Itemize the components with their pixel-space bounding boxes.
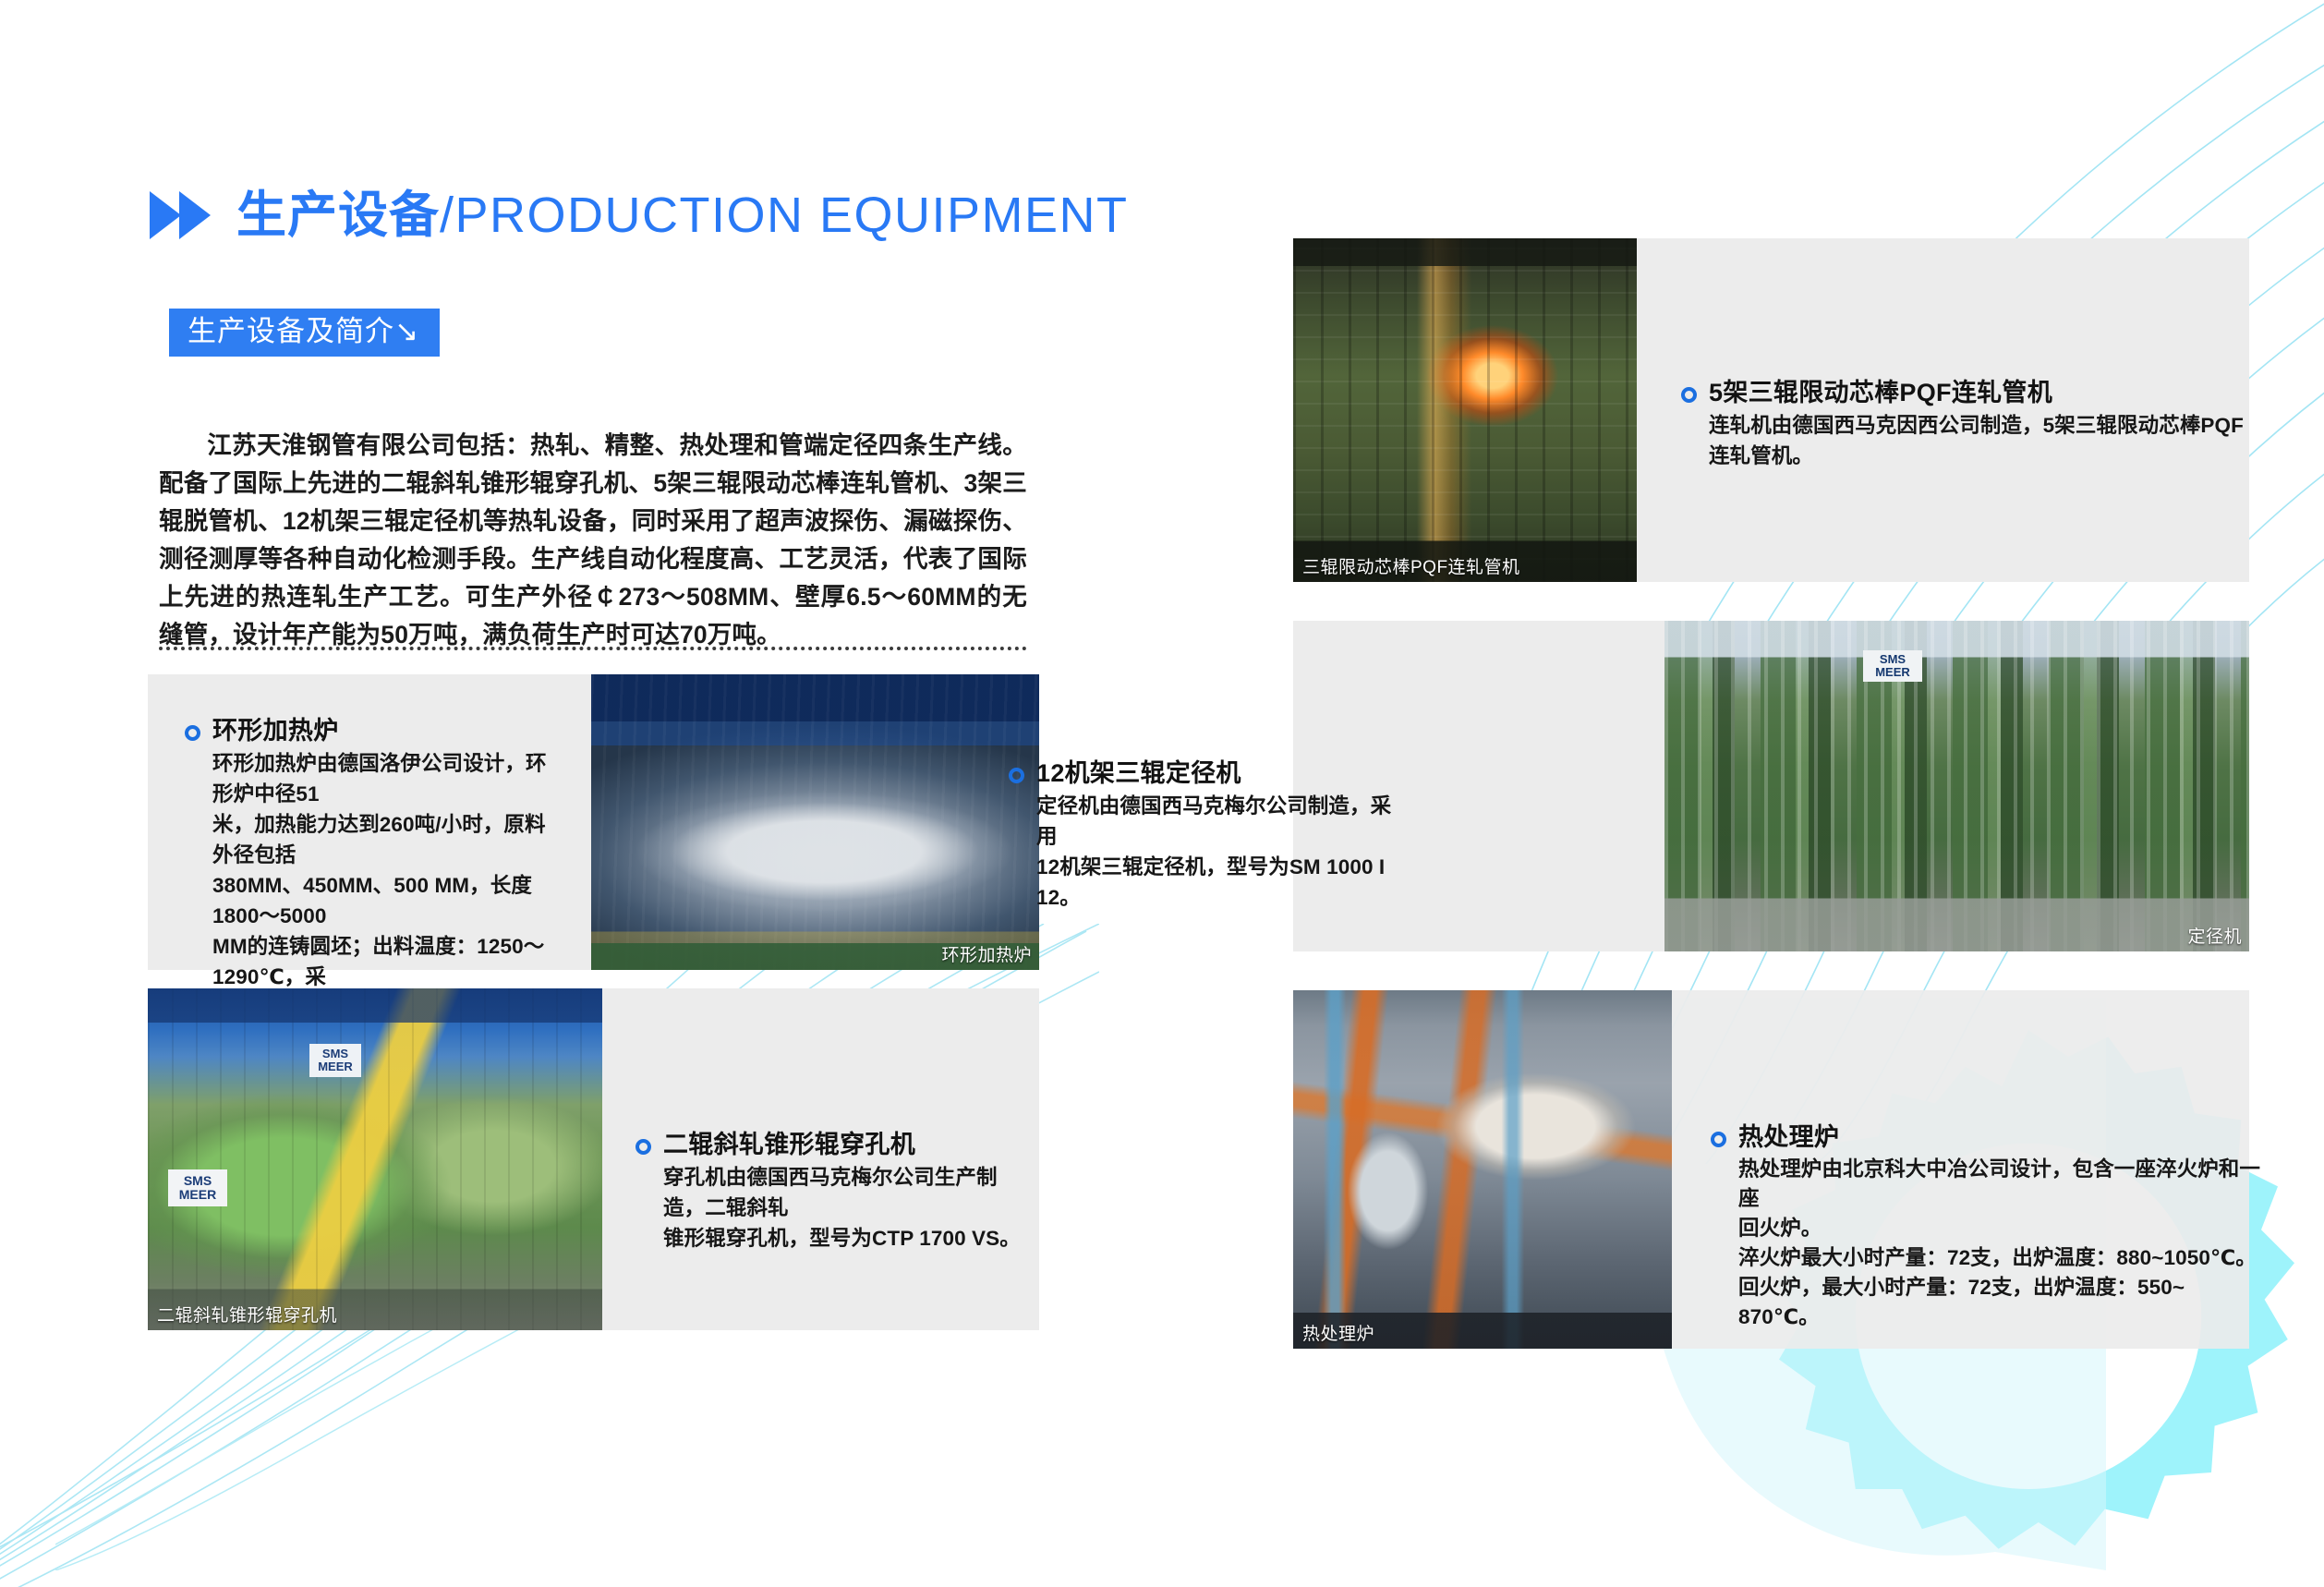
card-ring-furnace: 环形加热炉 环形加热炉 环形加热炉由德国洛伊公司设计，环形炉中径51 米，加热能… — [148, 674, 1039, 970]
card-line: MM的连铸圆坯；出料温度：1250～1290℃，采 — [212, 931, 563, 992]
intro-paragraph: 江苏天淮钢管有限公司包括：热轧、精整、热处理和管端定径四条生产线。配备了国际上先… — [159, 427, 1027, 654]
card-title: 二辊斜轧锥形辊穿孔机 — [663, 1129, 1023, 1160]
card-line: 穿孔机由德国西马克梅尔公司生产制造，二辊斜轧 — [663, 1162, 1023, 1223]
card-line: 热处理炉由北京科大中冶公司设计，包含一座淬火炉和一座 — [1738, 1155, 2265, 1214]
card-title: 热处理炉 — [1738, 1121, 2265, 1153]
card-heat-treatment-furnace: 热处理炉 热处理炉 热处理炉由北京科大中冶公司设计，包含一座淬火炉和一座 回火炉… — [1293, 990, 2249, 1349]
page-title: 生产设备/PRODUCTION EQUIPMENT — [236, 190, 1129, 240]
sms-meer-plate: SMSMEER — [309, 1044, 361, 1077]
section-badge: 生产设备及简介↘ — [169, 309, 440, 357]
cyan-swoosh-top-right — [1386, 0, 2324, 1164]
sms-meer-plate: SMSMEER — [1863, 650, 1922, 682]
card-text: 热处理炉 热处理炉由北京科大中冶公司设计，包含一座淬火炉和一座 回火炉。 淬火炉… — [1711, 1121, 2265, 1332]
photo-ring-furnace: 环形加热炉 — [591, 674, 1039, 970]
photo-caption: 热处理炉 — [1302, 1320, 1374, 1345]
brochure-page: 生产设备/PRODUCTION EQUIPMENT 生产设备及简介↘ 江苏天淮钢… — [0, 0, 2324, 1587]
bullet-icon — [635, 1139, 651, 1155]
card-line: 米，加热能力达到260吨/小时，原料外径包括 — [212, 809, 563, 870]
sms-meer-plate: SMSMEER — [168, 1169, 227, 1206]
card-line: 定径机由德国西马克梅尔公司制造，采用 — [1036, 791, 1406, 852]
photo-piercing-mill: SMSMEER SMSMEER 二辊斜轧锥形辊穿孔机 — [148, 988, 602, 1330]
card-line: 锥形辊穿孔机，型号为CTP 1700 VS。 — [663, 1223, 1023, 1254]
card-line: 淬火炉最大小时产量：72支，出炉温度：880~1050℃。 — [1738, 1243, 2265, 1273]
page-header: 生产设备/PRODUCTION EQUIPMENT — [148, 189, 1129, 241]
bullet-icon — [1681, 387, 1697, 403]
photo-pqf-mill: 三辊限动芯棒PQF连轧管机 — [1293, 238, 1637, 582]
card-line: 环形加热炉由德国洛伊公司设计，环形炉中径51 — [212, 748, 563, 809]
bullet-icon — [1009, 768, 1024, 783]
card-line: 12机架三辊定径机，型号为SM 1000 I 12。 — [1036, 852, 1406, 913]
page-title-cn: 生产设备 — [236, 188, 440, 243]
card-line: 回火炉，最大小时产量：72支，出炉温度：550~ 870℃。 — [1738, 1273, 2265, 1332]
card-line: 连轧机由德国西马克因西公司制造，5架三辊限动芯棒PQF — [1709, 410, 2245, 441]
page-title-sep: / — [440, 188, 455, 243]
card-title: 12机架三辊定径机 — [1036, 757, 1406, 789]
card-line: 380MM、450MM、500 MM，长度1800～5000 — [212, 870, 563, 931]
card-line: 回火炉。 — [1738, 1214, 2265, 1243]
photo-caption: 环形加热炉 — [941, 941, 1032, 966]
photo-caption: 定径机 — [2187, 923, 2242, 948]
card-title: 5架三辊限动芯棒PQF连轧管机 — [1709, 377, 2245, 408]
card-text: 5架三辊限动芯棒PQF连轧管机 连轧机由德国西马克因西公司制造，5架三辊限动芯棒… — [1681, 377, 2245, 471]
photo-heat-treatment: 热处理炉 — [1293, 990, 1672, 1349]
bullet-icon — [1711, 1132, 1726, 1147]
card-text-sizing-mill: 12机架三辊定径机 定径机由德国西马克梅尔公司制造，采用 12机架三辊定径机，型… — [1009, 757, 1406, 913]
card-line: 连轧管机。 — [1709, 441, 2245, 471]
card-sizing-mill: SMSMEER 定径机 — [1293, 621, 2249, 951]
photo-caption: 三辊限动芯棒PQF连轧管机 — [1302, 553, 1520, 578]
card-pqf-mill: 三辊限动芯棒PQF连轧管机 5架三辊限动芯棒PQF连轧管机 连轧机由德国西马克因… — [1293, 238, 2249, 582]
intro-text: 江苏天淮钢管有限公司包括：热轧、精整、热处理和管端定径四条生产线。配备了国际上先… — [159, 431, 1027, 648]
photo-sizing-mill: SMSMEER 定径机 — [1664, 621, 2249, 951]
page-title-en: PRODUCTION EQUIPMENT — [455, 188, 1129, 243]
bullet-icon — [185, 725, 200, 741]
card-title: 环形加热炉 — [212, 715, 563, 746]
card-text: 二辊斜轧锥形辊穿孔机 穿孔机由德国西马克梅尔公司生产制造，二辊斜轧 锥形辊穿孔机… — [635, 1129, 1023, 1254]
photo-caption: 二辊斜轧锥形辊穿孔机 — [157, 1302, 337, 1327]
dashed-divider — [159, 647, 1027, 650]
double-chevron-right-icon — [148, 189, 212, 241]
card-piercing-mill: SMSMEER SMSMEER 二辊斜轧锥形辊穿孔机 二辊斜轧锥形辊穿孔机 穿孔… — [148, 988, 1039, 1330]
